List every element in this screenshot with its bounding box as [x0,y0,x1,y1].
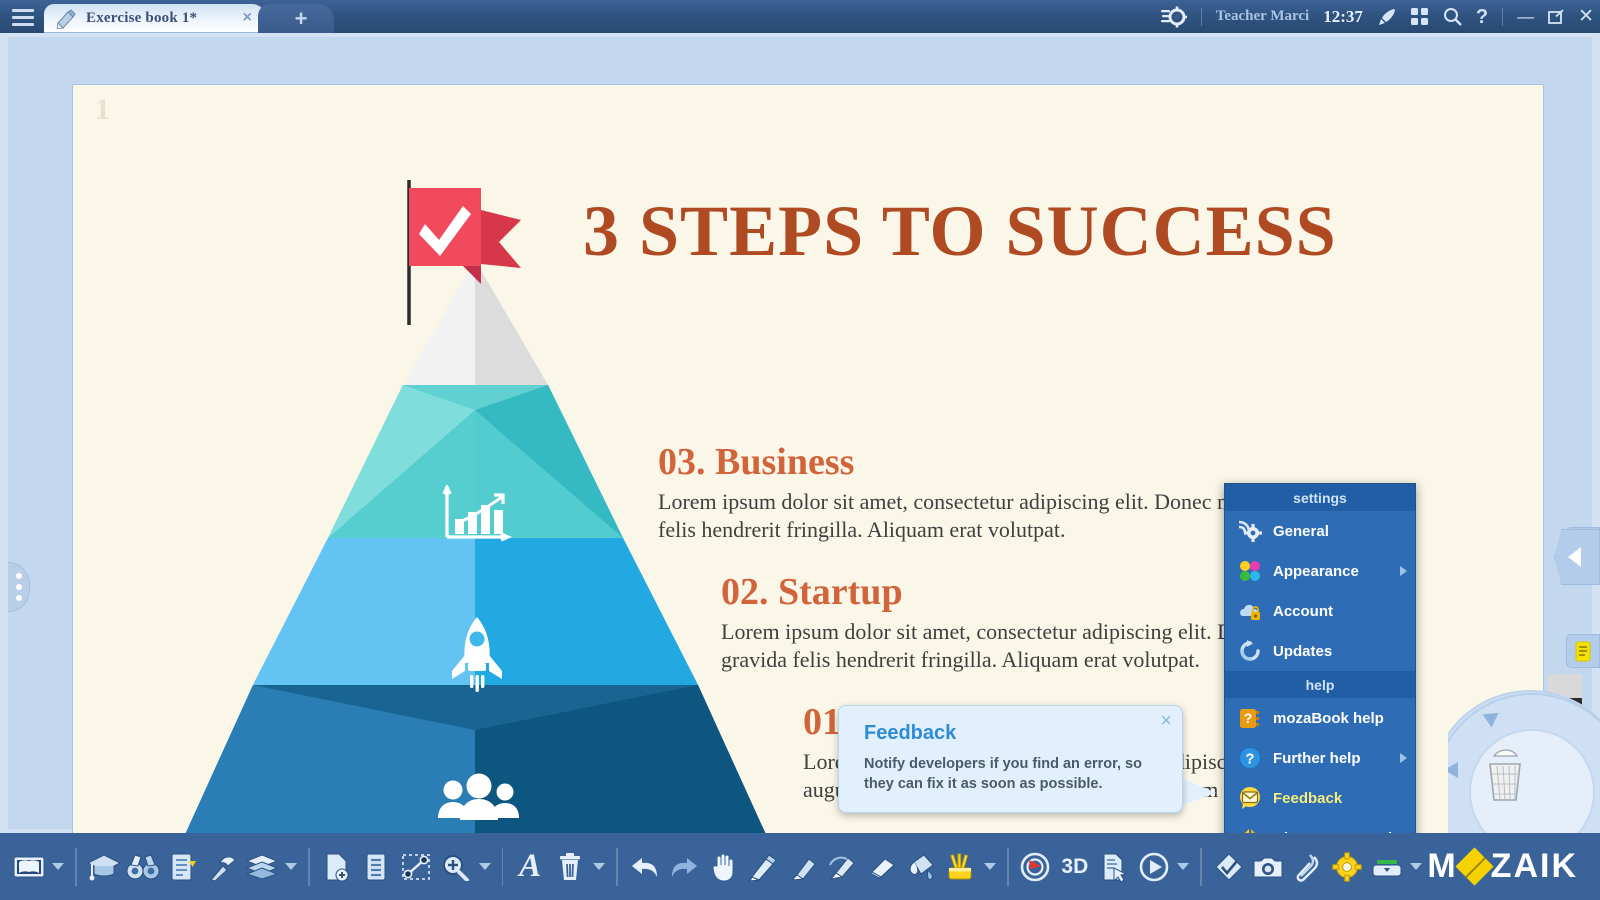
divider [1201,8,1202,26]
media-record-icon[interactable] [1017,842,1054,892]
menu-item-account[interactable]: Account [1225,591,1415,631]
tooltip-body: Notify developers if you find an error, … [864,754,1164,795]
flag-icon [403,180,533,320]
new-tab-button[interactable]: + [258,4,334,33]
page-title: 3 STEPS TO SUCCESS [583,190,1337,273]
camera-icon[interactable] [1250,842,1287,892]
rocket-icon [446,615,508,693]
rocket-icon[interactable] [1377,7,1397,27]
divider [1502,8,1503,26]
clock: 12:37 [1323,7,1363,27]
hamburger-icon[interactable] [8,5,38,29]
pen-cup-dropdown-caret[interactable] [981,842,999,892]
shapes-icon[interactable] [1210,842,1247,892]
redo-icon[interactable] [665,842,702,892]
title-bar: Exercise book 1* × + [0,0,1600,33]
menu-item-label: Updates [1273,643,1332,660]
minimize-button[interactable]: — [1517,8,1534,25]
document-cursor-icon[interactable] [1096,842,1133,892]
submenu-arrow-icon [1400,753,1407,763]
undo-icon[interactable] [626,842,663,892]
menu-group-header-help: help [1225,671,1415,698]
layers-icon[interactable] [243,842,280,892]
divider [502,848,504,886]
menu-item-label: General [1273,523,1329,540]
cloud-lock-icon [1237,598,1263,624]
blue-question-icon: ? [1237,745,1263,771]
feedback-tooltip: × Feedback Notify developers if you find… [838,705,1183,813]
left-drawer-handle[interactable] [8,562,30,612]
titlebar-right-group: Teacher Marci 12:37 [1161,0,1594,33]
menu-item-mozabook-help[interactable]: ? mozaBook help [1225,698,1415,738]
menu-item-further-help[interactable]: ? Further help [1225,738,1415,778]
scanner-dropdown-caret[interactable] [1407,842,1425,892]
page-number: 1 [95,93,110,127]
mozaik-logo: M ZAIK [1427,847,1578,886]
play-icon[interactable] [1135,842,1172,892]
zoom-in-icon[interactable] [436,842,473,892]
restore-button[interactable] [1548,9,1564,25]
eraser-icon[interactable] [863,842,900,892]
grid-apps-icon[interactable] [1411,8,1429,26]
envelope-bubble-icon [1237,785,1263,811]
scanner-icon[interactable] [1368,842,1405,892]
3d-icon[interactable]: 3D [1056,842,1093,892]
bar-chart-icon [440,485,512,547]
binoculars-icon[interactable] [125,842,162,892]
menu-item-label: Feedback [1273,790,1342,807]
menu-item-label: Account [1273,603,1333,620]
submenu-arrow-icon [1400,566,1407,576]
people-icon [436,772,522,824]
work-area-inner: 1 [8,37,1592,829]
close-button[interactable]: ✕ [1578,7,1594,26]
color-dots-icon [1237,558,1263,584]
layers-dropdown-caret[interactable] [282,842,300,892]
gears-icon [1237,518,1263,544]
paperclip-icon[interactable] [1289,842,1326,892]
list-page-icon[interactable] [357,842,394,892]
hammer-icon[interactable] [203,842,240,892]
search-icon[interactable] [1443,7,1462,26]
help-icon[interactable]: ? [1476,7,1488,27]
select-shape-icon[interactable] [397,842,434,892]
tooltip-title: Feedback [864,722,956,745]
paint-bucket-icon[interactable] [902,842,939,892]
notes-icon[interactable] [1566,634,1600,668]
pen-cup-icon[interactable] [942,842,979,892]
play-dropdown-caret[interactable] [1174,842,1192,892]
menu-group-header-settings: settings [1225,484,1415,511]
divider [75,848,77,886]
zoom-dropdown-caret[interactable] [476,842,494,892]
add-page-icon[interactable] [318,842,355,892]
logo-diamond-icon [1455,847,1493,885]
book-dropdown-caret[interactable] [49,842,67,892]
divider [1200,848,1202,886]
text-tool-icon[interactable]: A [511,842,548,892]
divider [308,848,310,886]
pencil-icon[interactable] [744,842,781,892]
hand-icon[interactable] [705,842,742,892]
svg-text:?: ? [1245,751,1254,768]
divider [616,848,618,886]
user-name[interactable]: Teacher Marci [1216,8,1309,25]
menu-item-feedback[interactable]: Feedback [1225,778,1415,818]
trash-dropdown-caret[interactable] [590,842,608,892]
graduation-cap-icon[interactable] [85,842,122,892]
refresh-icon [1237,638,1263,664]
settings-gear-icon[interactable] [1161,5,1187,29]
document-note-icon[interactable] [164,842,201,892]
tab-title: Exercise book 1* [86,10,197,27]
logo-text-after: ZAIK [1491,847,1578,886]
divider [1007,848,1009,886]
pyramid-graphic [178,260,788,854]
section-heading: 03. Business [658,440,1418,484]
menu-item-label: Further help [1273,750,1361,767]
bottom-toolbar: A [0,833,1600,900]
svg-text:?: ? [1244,710,1253,726]
orange-question-book-icon: ? [1237,705,1263,731]
tab-close-icon[interactable]: × [243,9,252,27]
gear-yellow-icon[interactable] [1328,842,1365,892]
menu-item-appearance[interactable]: Appearance [1225,551,1415,591]
menu-item-updates[interactable]: Updates [1225,631,1415,671]
tab-exercise-book[interactable]: Exercise book 1* × [44,4,266,33]
settings-menu[interactable]: settings [1224,483,1416,868]
prev-page-button[interactable] [1554,529,1600,585]
highlighter-icon[interactable] [823,842,860,892]
logo-text-before: M [1427,847,1457,886]
book-icon[interactable] [10,842,47,892]
pen-book-icon [56,9,78,29]
right-side-panel [1448,74,1600,870]
menu-item-general[interactable]: General [1225,511,1415,551]
marker-icon[interactable] [784,842,821,892]
menu-item-label: mozaBook help [1273,710,1384,727]
menu-item-label: Appearance [1273,563,1359,580]
work-area: 1 [0,33,1600,833]
trash-icon[interactable] [551,842,588,892]
tooltip-close-icon[interactable]: × [1160,710,1172,733]
